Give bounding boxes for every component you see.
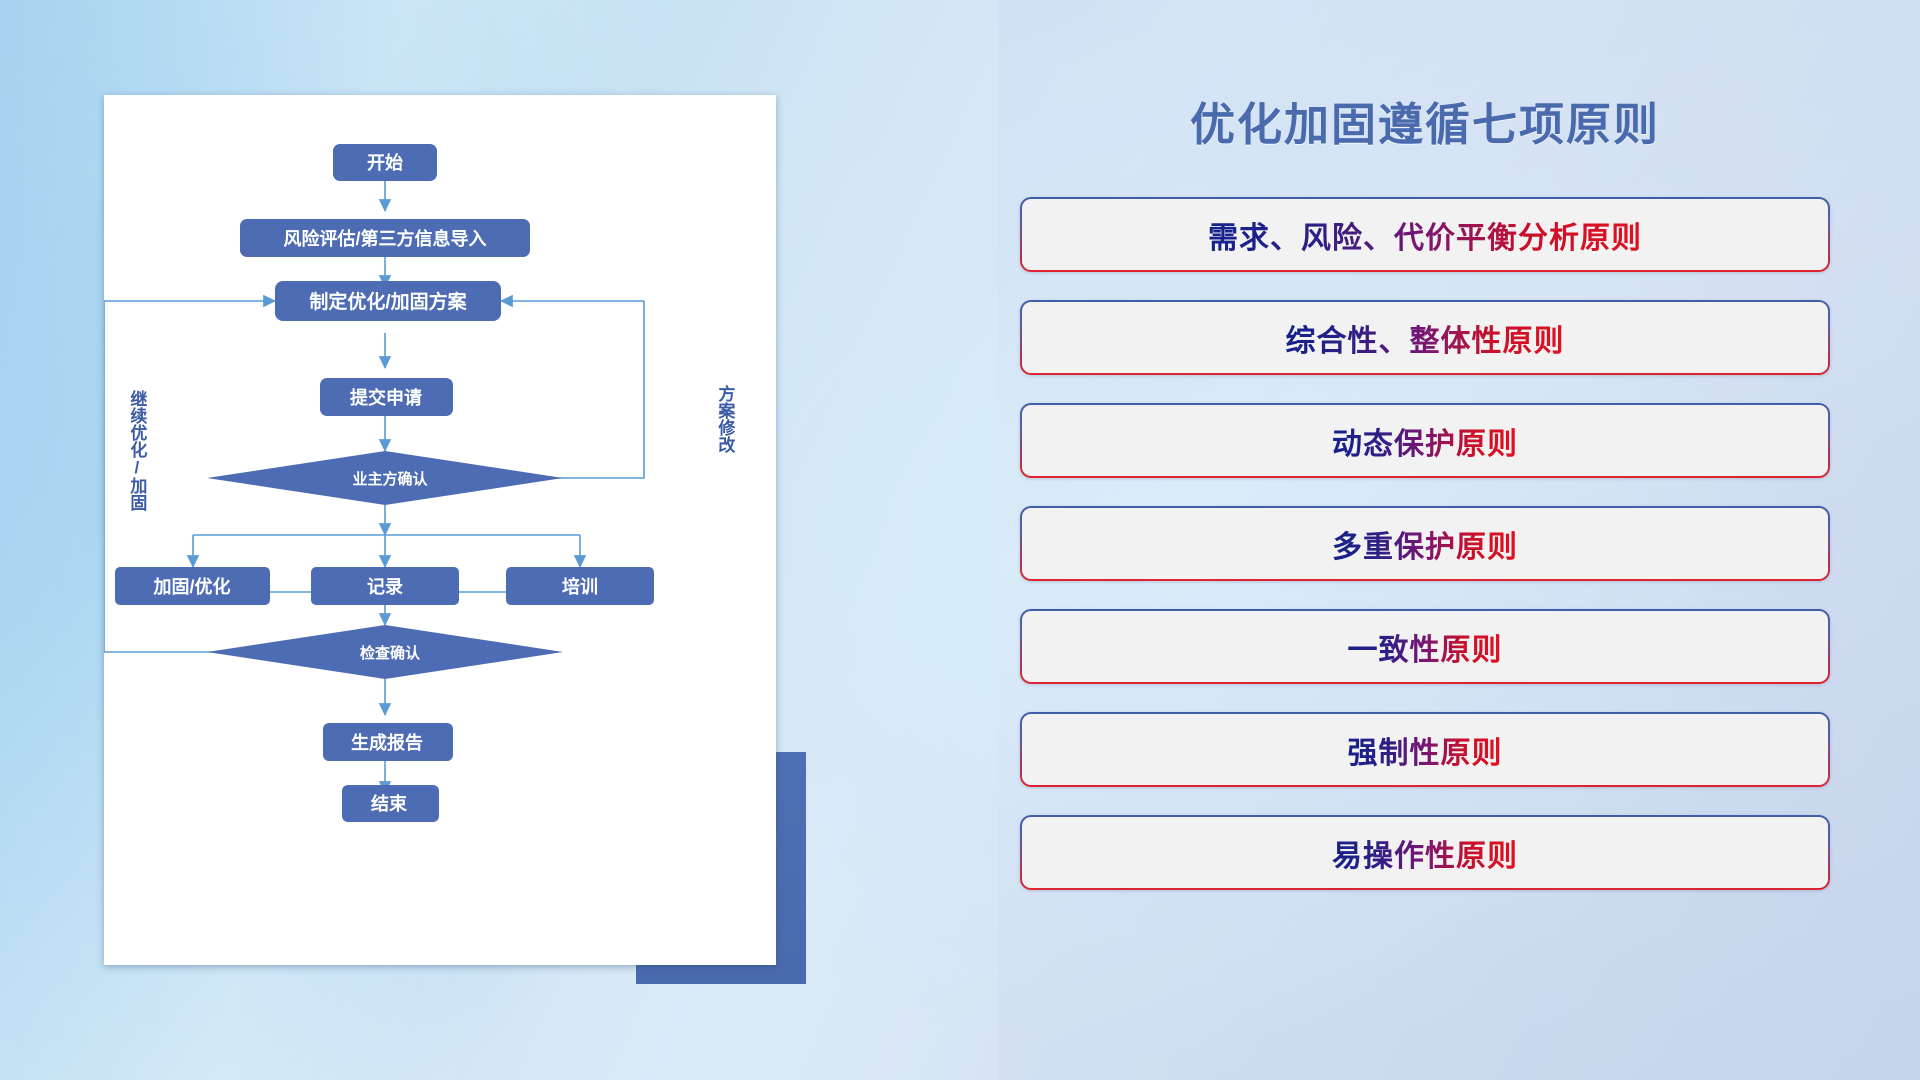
principle-item-3-label: 动态保护原则 xyxy=(1332,419,1518,463)
principle-item-5[interactable]: 一致性原则 xyxy=(1020,609,1830,684)
principle-item-4-label: 多重保护原则 xyxy=(1332,522,1518,566)
flow-node-reinforce[interactable]: 加固/优化 xyxy=(115,567,270,605)
principle-item-3-inner: 动态保护原则 xyxy=(1022,405,1828,476)
flow-node-risk-assess-label: 风险评估/第三方信息导入 xyxy=(284,228,487,249)
flow-node-risk-assess[interactable]: 风险评估/第三方信息导入 xyxy=(240,219,530,257)
flow-node-check-confirm-label: 检查确认 xyxy=(360,644,421,662)
principles-title: 优化加固遵循七项原则 xyxy=(1020,88,1830,153)
principle-item-3[interactable]: 动态保护原则 xyxy=(1020,403,1830,478)
flow-node-start[interactable]: 开始 xyxy=(333,144,437,181)
flow-side-label-plan-revise: 方案修改 xyxy=(716,385,733,453)
principle-item-6-inner: 强制性原则 xyxy=(1022,714,1828,785)
principle-item-2-label: 综合性、整体性原则 xyxy=(1286,316,1565,360)
flow-node-make-plan[interactable]: 制定优化/加固方案 xyxy=(275,281,501,321)
principle-item-7-inner: 易操作性原则 xyxy=(1022,817,1828,888)
flow-node-training[interactable]: 培训 xyxy=(506,567,654,605)
principle-item-6-label: 强制性原则 xyxy=(1348,728,1503,772)
principle-item-1[interactable]: 需求、风险、代价平衡分析原则 xyxy=(1020,197,1830,272)
flow-node-owner-confirm[interactable]: 业主方确认 xyxy=(207,451,563,505)
principle-item-5-label: 一致性原则 xyxy=(1348,625,1503,669)
flowchart-diagram: 开始 风险评估/第三方信息导入 制定优化/加固方案 提交申请 业主方确认 加固/… xyxy=(104,95,776,965)
flow-node-end[interactable]: 结束 xyxy=(342,785,439,822)
flow-node-report-label: 生成报告 xyxy=(351,732,423,753)
flowchart-card: 开始 风险评估/第三方信息导入 制定优化/加固方案 提交申请 业主方确认 加固/… xyxy=(104,95,776,965)
principles-panel: 优化加固遵循七项原则 需求、风险、代价平衡分析原则 综合性、整体性原则 动态保护… xyxy=(1020,88,1830,1008)
flow-side-label-continue-optimize: 继续优化/加固 xyxy=(128,390,145,511)
principle-item-7[interactable]: 易操作性原则 xyxy=(1020,815,1830,890)
flow-node-report[interactable]: 生成报告 xyxy=(323,723,453,761)
flow-node-record-label: 记录 xyxy=(367,577,403,597)
principle-item-4-inner: 多重保护原则 xyxy=(1022,508,1828,579)
flow-node-end-label: 结束 xyxy=(371,793,408,814)
flow-node-owner-confirm-label: 业主方确认 xyxy=(352,470,428,488)
flow-node-training-label: 培训 xyxy=(562,576,598,597)
principle-item-7-label: 易操作性原则 xyxy=(1332,831,1518,875)
principle-item-6[interactable]: 强制性原则 xyxy=(1020,712,1830,787)
flow-node-submit-label: 提交申请 xyxy=(350,387,422,408)
flow-node-record[interactable]: 记录 xyxy=(311,567,459,605)
principle-item-2-inner: 综合性、整体性原则 xyxy=(1022,302,1828,373)
flow-node-check-confirm[interactable]: 检查确认 xyxy=(207,625,563,679)
principle-item-2[interactable]: 综合性、整体性原则 xyxy=(1020,300,1830,375)
flow-node-reinforce-label: 加固/优化 xyxy=(152,576,230,597)
principle-item-4[interactable]: 多重保护原则 xyxy=(1020,506,1830,581)
flow-node-start-label: 开始 xyxy=(367,152,403,173)
flow-node-make-plan-label: 制定优化/加固方案 xyxy=(309,290,467,313)
flow-node-submit[interactable]: 提交申请 xyxy=(320,378,453,416)
principle-item-1-label: 需求、风险、代价平衡分析原则 xyxy=(1208,213,1642,257)
principle-item-1-inner: 需求、风险、代价平衡分析原则 xyxy=(1022,199,1828,270)
principle-item-5-inner: 一致性原则 xyxy=(1022,611,1828,682)
